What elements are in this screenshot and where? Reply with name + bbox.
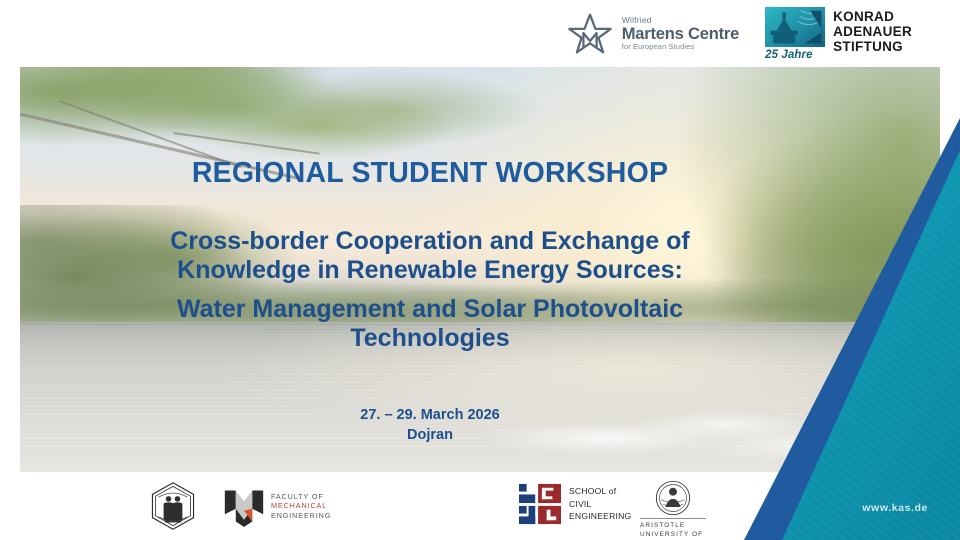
martens-line-3: for European Studies <box>622 43 739 51</box>
civil-line-1: SCHOOL of <box>569 485 631 497</box>
martens-centre-wordmark: Wilfried Martens Centre for European Stu… <box>622 16 739 51</box>
mech-line-3: ENGINEERING <box>271 511 331 520</box>
aristotle-line-1: ARISTOTLE <box>640 521 706 530</box>
university-seal-icon <box>148 481 198 531</box>
presentation-slide: Wilfried Martens Centre for European Stu… <box>0 0 960 540</box>
kas-website-url[interactable]: www.kas.de <box>862 502 928 514</box>
footer-logo-ukim <box>148 481 198 531</box>
cube-icon <box>223 485 265 527</box>
mech-wordmark: FACULTY OF MECHANICAL ENGINEERING <box>271 492 331 520</box>
aristotle-seal-icon <box>655 480 691 516</box>
aristotle-line-2: UNIVERSITY OF <box>640 530 706 539</box>
header-logo-bar: Wilfried Martens Centre for European Stu… <box>0 0 960 67</box>
kas-logo: 25 Jahre KONRAD ADENAUER STIFTUNG <box>765 7 912 61</box>
mech-line-1: FACULTY OF <box>271 492 331 501</box>
kas-anniversary-label: 25 Jahre <box>765 49 812 61</box>
footer-logo-aristotle-university: ARISTOTLE UNIVERSITY OF THESSALONIKI <box>640 480 706 540</box>
kas-wordmark: KONRAD ADENAUER STIFTUNG <box>833 7 912 54</box>
civil-logo-wrap: SCHOOL of CIVIL ENGINEERING <box>518 483 631 525</box>
civil-blocks-icon <box>518 483 562 525</box>
auth-logo-wrap: ARISTOTLE UNIVERSITY OF THESSALONIKI <box>640 480 706 540</box>
kas-line-2: ADENAUER <box>833 24 912 39</box>
civil-wordmark: SCHOOL of CIVIL ENGINEERING <box>569 485 631 522</box>
background-photo <box>20 67 940 472</box>
martens-centre-logo: Wilfried Martens Centre for European Stu… <box>567 12 739 56</box>
footer-logo-civil-engineering: SCHOOL of CIVIL ENGINEERING <box>518 483 631 525</box>
martens-line-1: Wilfried <box>622 16 739 25</box>
footer-logo-mechanical-engineering: FACULTY OF MECHANICAL ENGINEERING <box>223 485 331 527</box>
civil-line-3: ENGINEERING <box>569 510 631 522</box>
civil-line-2: CIVIL <box>569 498 631 510</box>
kas-line-3: STIFTUNG <box>833 39 912 54</box>
kas-mark-wrap: 25 Jahre <box>765 7 825 61</box>
footer-logo-bar: FACULTY OF MECHANICAL ENGINEERING <box>0 472 960 540</box>
kas-line-1: KONRAD <box>833 9 912 24</box>
martens-line-2: Martens Centre <box>622 26 739 43</box>
kas-monument-icon <box>765 7 825 47</box>
mech-logo-wrap: FACULTY OF MECHANICAL ENGINEERING <box>223 485 331 527</box>
photo-brightness-wash <box>20 67 940 472</box>
mech-line-2: MECHANICAL <box>271 501 331 510</box>
star-m-icon <box>567 12 613 56</box>
aristotle-wordmark: ARISTOTLE UNIVERSITY OF THESSALONIKI <box>640 518 706 540</box>
